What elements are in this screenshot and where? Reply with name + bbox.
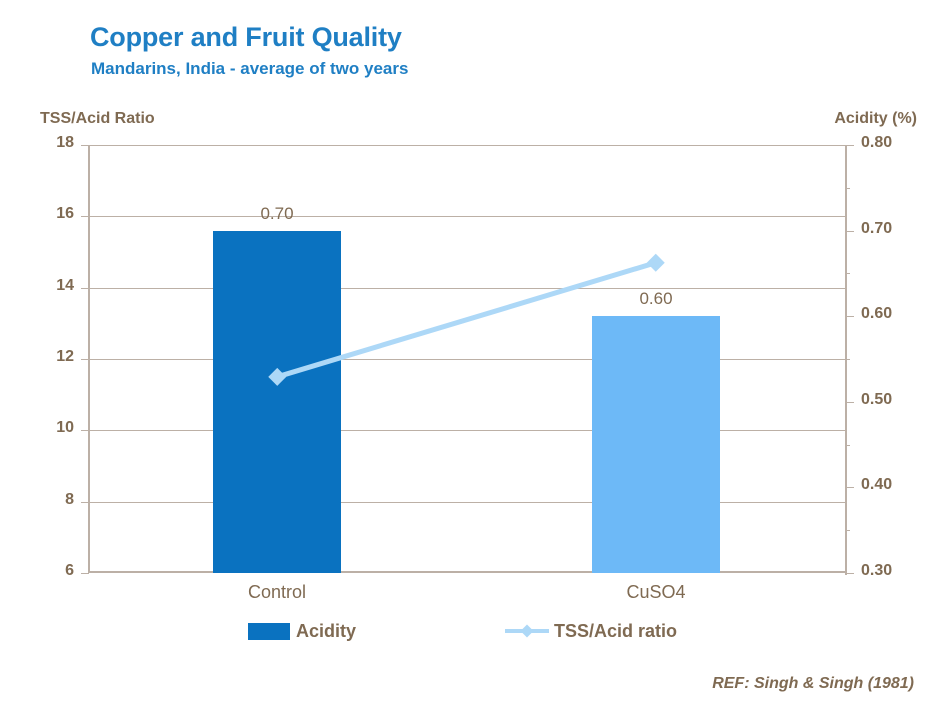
line-diamond-marker-icon	[505, 622, 549, 640]
legend-label-acidity: Acidity	[296, 621, 356, 642]
square-swatch-icon	[248, 623, 290, 640]
line-series-tss-acid-ratio	[0, 0, 944, 707]
legend-item-acidity[interactable]: Acidity	[248, 618, 356, 644]
reference-note: REF: Singh & Singh (1981)	[712, 675, 914, 693]
chart-legend: Acidity TSS/Acid ratio	[0, 618, 944, 652]
line-path	[277, 263, 656, 377]
legend-label-tss-acid-ratio: TSS/Acid ratio	[554, 621, 677, 642]
line-marker-diamond-icon[interactable]	[647, 254, 665, 272]
chart-container: Copper and Fruit Quality Mandarins, Indi…	[0, 0, 944, 707]
line-marker-diamond-icon[interactable]	[268, 368, 286, 386]
legend-item-tss-acid-ratio[interactable]: TSS/Acid ratio	[505, 618, 677, 644]
